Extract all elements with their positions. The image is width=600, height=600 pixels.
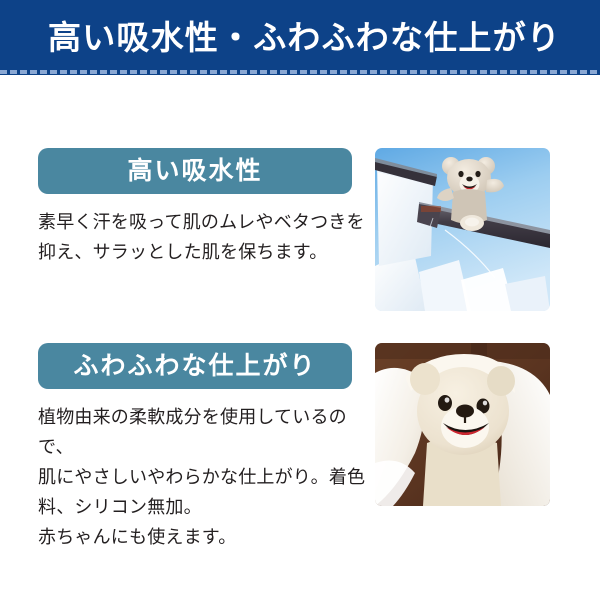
- feature-text-column: 高い吸水性 素早く汗を吸って肌のムレやベタつきを 抑え、サラッとした肌を保ちます…: [38, 148, 356, 267]
- feature-heading-label: ふわふわな仕上がり: [73, 351, 316, 381]
- feature-heading-pill: 高い吸水性: [38, 148, 352, 194]
- feature-body-text: 素早く汗を吸って肌のムレやベタつきを 抑え、サラッとした肌を保ちます。: [38, 207, 368, 267]
- feature-body-text: 植物由来の柔軟成分を使用しているので、 肌にやさしいやわらかな仕上がり。着色 料…: [38, 402, 368, 552]
- header-dashed-divider: [0, 70, 600, 74]
- feature-text-column: ふわふわな仕上がり 植物由来の柔軟成分を使用しているので、 肌にやさしいやわらか…: [38, 343, 356, 552]
- feature-heading-pill: ふわふわな仕上がり: [38, 343, 352, 389]
- feature-photo-bear-in-towel: [375, 343, 550, 506]
- page-title: 高い吸水性・ふわふわな仕上がり: [48, 16, 561, 60]
- header-banner: 高い吸水性・ふわふわな仕上がり: [0, 0, 600, 75]
- feature-photo-laundry-pole: [375, 148, 550, 311]
- content-area: 高い吸水性 素早く汗を吸って肌のムレやベタつきを 抑え、サラッとした肌を保ちます…: [0, 75, 600, 600]
- feature-heading-label: 高い吸水性: [127, 156, 262, 186]
